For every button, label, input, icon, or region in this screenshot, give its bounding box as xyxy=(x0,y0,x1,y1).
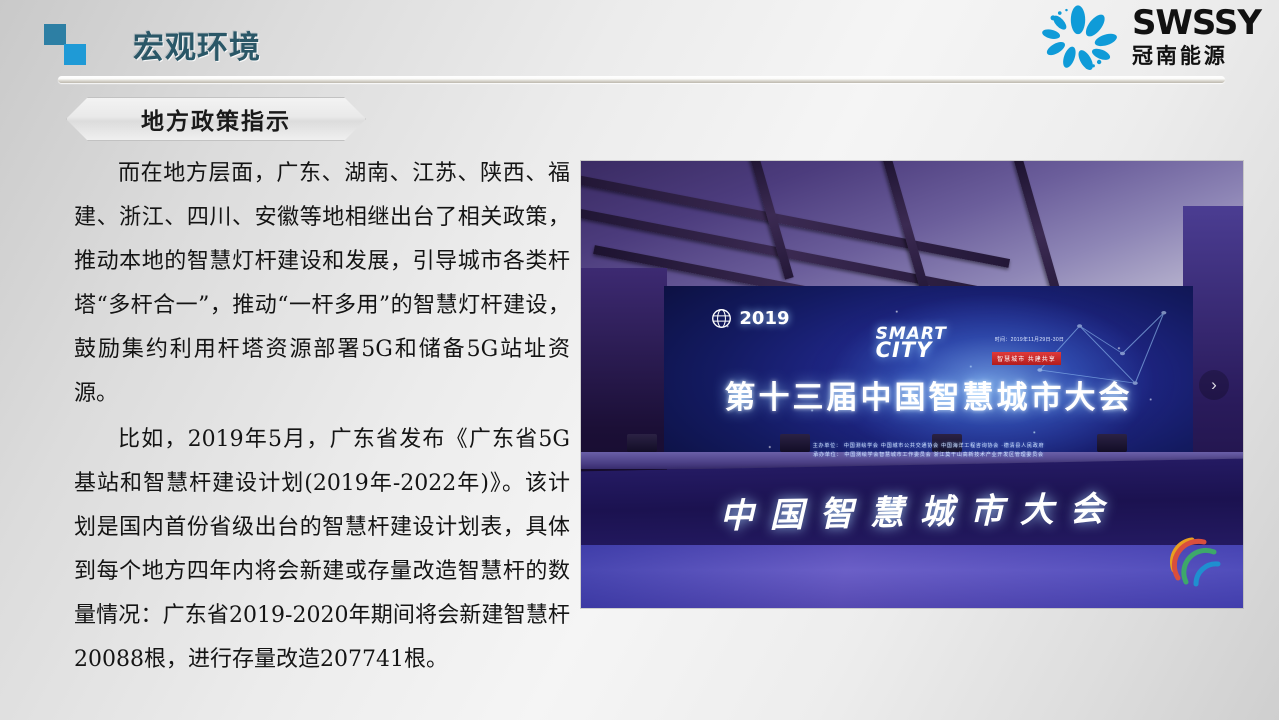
brand-name-en: SWSSY xyxy=(1132,6,1261,40)
stage-floor xyxy=(581,545,1243,608)
brand-logo: SWSSY 冠南能源 xyxy=(1030,4,1261,72)
conference-photo: 2019 SMART CITY 时间：2019年11月29日-30日 智慧城市 … xyxy=(581,161,1243,608)
header-divider-rule xyxy=(58,76,1225,83)
slide-root: 宏观环境 SWSSY 冠南 xyxy=(0,0,1279,720)
stage-speaker xyxy=(780,434,810,452)
stage-speaker xyxy=(1097,434,1127,452)
led-year-text: 2019 xyxy=(739,308,789,329)
decor-square-dark xyxy=(44,24,66,45)
header-decor-squares xyxy=(44,24,96,70)
brand-text: SWSSY 冠南能源 xyxy=(1132,6,1261,70)
led-year-block: 2019 xyxy=(711,308,789,329)
globe-icon xyxy=(711,308,732,329)
paragraph-2: 比如，2019年5月，广东省发布《广东省5G基站和智慧杆建设计划(2019年-2… xyxy=(74,418,570,682)
led-event-title: 第十三届中国智慧城市大会 xyxy=(725,372,1133,417)
led-organizer-line-2: 承办单位： 中国测绘学会智慧城市工作委员会 浙江莫干山高新技术产业开发区管理委员… xyxy=(813,451,1045,460)
next-arrow-button[interactable]: › xyxy=(1199,370,1229,400)
led-smart-line2: CITY xyxy=(876,342,947,359)
page-title: 宏观环境 xyxy=(133,22,261,67)
section-banner xyxy=(66,97,366,141)
swssy-petal-mark-icon xyxy=(1030,4,1126,72)
body-text-column: 而在地方层面，广东、湖南、江苏、陕西、福建、浙江、四川、安徽等地相继出台了相关政… xyxy=(74,152,570,682)
brand-name-cn: 冠南能源 xyxy=(1132,44,1228,70)
led-event-date: 时间：2019年11月29日-30日 xyxy=(995,336,1065,343)
colorful-globe-logo-icon xyxy=(1166,530,1226,590)
led-organizer-line-1: 主办单位： 中国测绘学会 中国城市公共交通协会 中国海洋工程咨询协会 ·德清县人… xyxy=(813,442,1045,451)
decor-square-bright xyxy=(64,44,86,65)
stage-front-panel-text: 中国智慧城市大会 xyxy=(704,481,1121,538)
led-event-slogan: 智慧城市 共建共享 xyxy=(992,352,1061,365)
paragraph-1: 而在地方层面，广东、湖南、江苏、陕西、福建、浙江、四川、安徽等地相继出台了相关政… xyxy=(74,152,570,416)
led-smart-city-logo: SMART CITY xyxy=(876,326,947,359)
stage-speaker xyxy=(627,434,657,452)
led-organizers: 主办单位： 中国测绘学会 中国城市公共交通协会 中国海洋工程咨询协会 ·德清县人… xyxy=(813,442,1045,460)
